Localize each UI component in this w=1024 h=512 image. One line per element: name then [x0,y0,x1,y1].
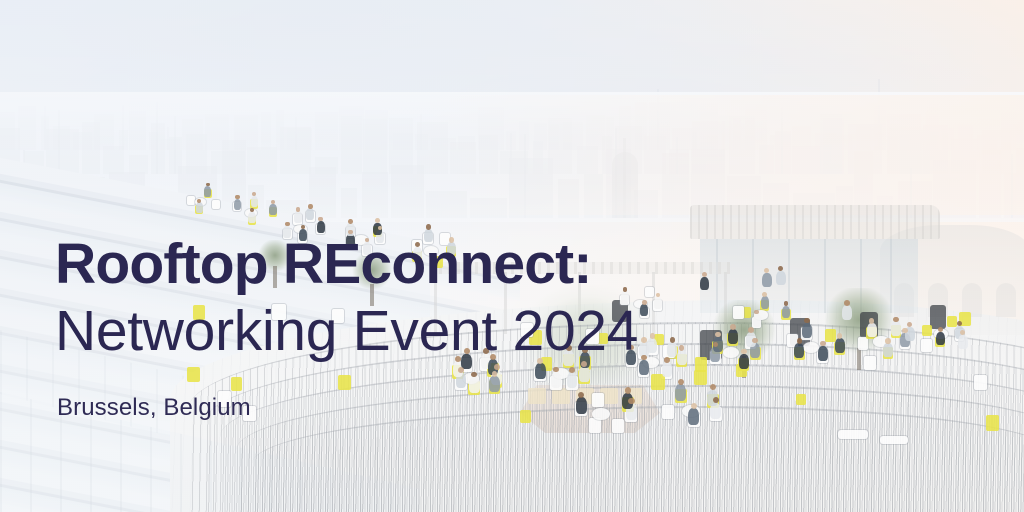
white-chair [974,375,987,390]
white-chair [921,339,932,352]
dark-planter-box [930,305,946,329]
guest-head [235,195,239,199]
guest-body [251,196,259,207]
yellow-chair [922,325,932,337]
guest-body [936,332,945,346]
guest-head [308,204,312,208]
hero-subtitle-location: Brussels, Belgium [57,394,915,422]
hero-title-line2: Networking Event 2024 [55,303,915,360]
sun-lounger [880,436,908,444]
yellow-chair [947,316,957,328]
guest-body [958,335,968,349]
hero-text-block: Rooftop REconnect: Networking Event 2024… [55,236,915,422]
guest-head [426,224,431,229]
guest-body [306,208,314,220]
guest-body [317,221,325,233]
guest-head [197,199,201,203]
guest-body [294,211,302,223]
guest-head [296,207,300,211]
hero-banner: Rooftop REconnect: Networking Event 2024… [0,0,1024,512]
guest-body [234,199,242,210]
guest-body [269,204,277,215]
guest-body [248,212,256,223]
yellow-chair [986,415,999,431]
guest-head [348,219,353,224]
guest-body [204,186,211,197]
white-chair [212,200,220,209]
guest-body [196,202,203,213]
hero-title-line1: Rooftop REconnect: [55,236,915,293]
guest-head [206,183,210,187]
guest-head [285,222,289,226]
sun-lounger [838,430,868,439]
white-chair [187,196,195,205]
